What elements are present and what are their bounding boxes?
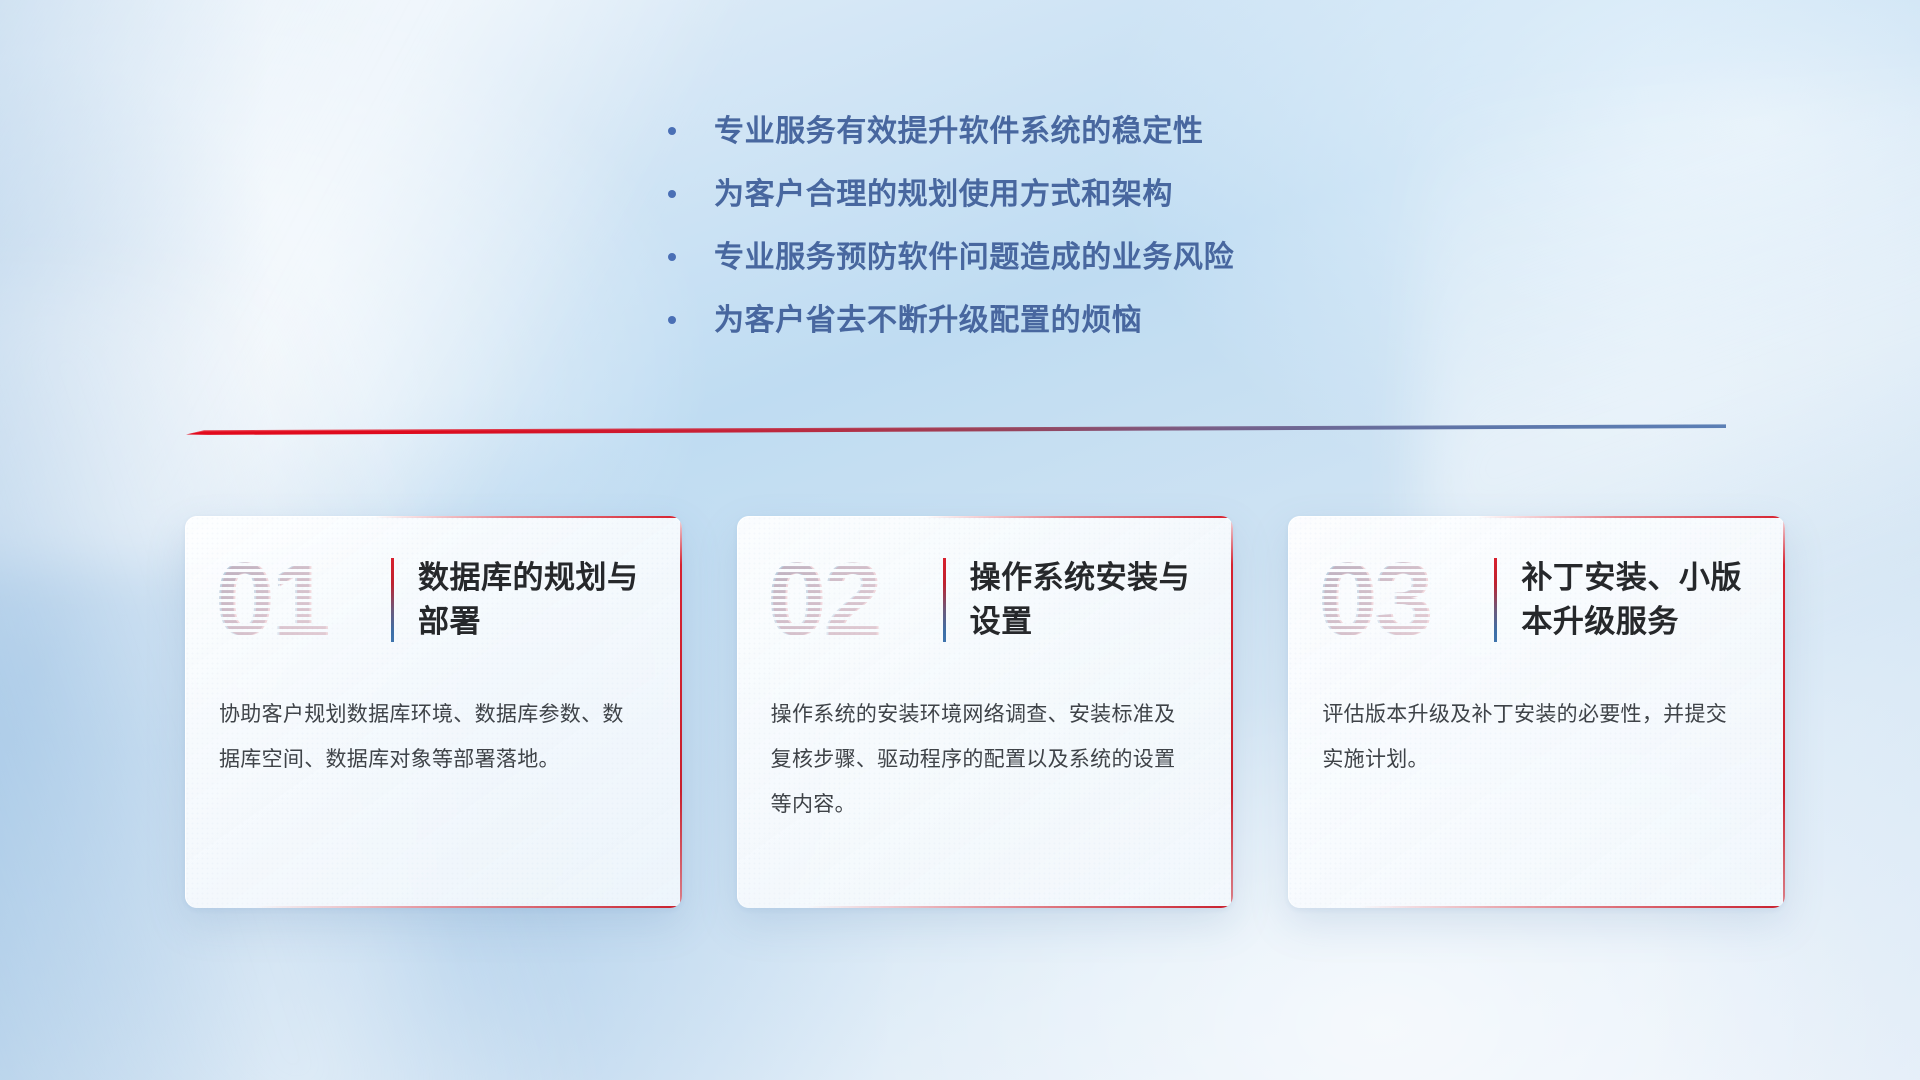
card-number-watermark: 03 03 bbox=[1316, 545, 1476, 655]
card-accent-border-bottom bbox=[255, 906, 682, 908]
bullet-item-label: 为客户合理的规划使用方式和架构 bbox=[714, 173, 1173, 217]
bullet-dot-icon bbox=[668, 316, 676, 324]
card-header: 02 02 操作系统安装与设置 bbox=[737, 516, 1234, 684]
bullet-item-label: 专业服务有效提升软件系统的稳定性 bbox=[714, 110, 1204, 154]
card-description: 评估版本升级及补丁安装的必要性，并提交实施计划。 bbox=[1288, 684, 1785, 782]
service-card-list: 01 01 数据库的规划与部署 协助客户规划数据库环境、数据库参数、数据库空间、… bbox=[185, 516, 1785, 916]
section-divider bbox=[186, 424, 1726, 442]
bullet-item-label: 为客户省去不断升级配置的烦恼 bbox=[714, 299, 1142, 343]
card-number-watermark: 02 02 bbox=[765, 545, 925, 655]
card-accent-bar bbox=[1494, 558, 1497, 642]
card-accent-bar bbox=[943, 558, 946, 642]
card-title: 补丁安装、小版本升级服务 bbox=[1521, 556, 1771, 644]
card-header: 01 01 数据库的规划与部署 bbox=[185, 516, 682, 684]
svg-text:02: 02 bbox=[769, 545, 881, 655]
bullet-item-label: 专业服务预防软件问题造成的业务风险 bbox=[714, 236, 1234, 280]
card-title: 操作系统安装与设置 bbox=[970, 556, 1220, 644]
card-accent-border-bottom bbox=[806, 906, 1233, 908]
service-card[interactable]: 01 01 数据库的规划与部署 协助客户规划数据库环境、数据库参数、数据库空间、… bbox=[185, 516, 682, 908]
card-accent-bar bbox=[391, 558, 394, 642]
list-item: 为客户合理的规划使用方式和架构 bbox=[663, 173, 1234, 217]
list-item: 为客户省去不断升级配置的烦恼 bbox=[663, 299, 1234, 343]
card-number-watermark: 01 01 bbox=[213, 545, 373, 655]
svg-text:03: 03 bbox=[1320, 545, 1432, 655]
card-description: 协助客户规划数据库环境、数据库参数、数据库空间、数据库对象等部署落地。 bbox=[185, 684, 682, 782]
service-card[interactable]: 03 03 补丁安装、小版本升级服务 评估版本升级及补丁安装的必要性，并提交实施… bbox=[1288, 516, 1785, 908]
svg-text:01: 01 bbox=[217, 545, 329, 655]
card-description: 操作系统的安装环境网络调查、安装标准及复核步骤、驱动程序的配置以及系统的设置等内… bbox=[737, 684, 1234, 827]
bullet-dot-icon bbox=[668, 127, 676, 135]
service-card[interactable]: 02 02 操作系统安装与设置 操作系统的安装环境网络调查、安装标准及复核步骤、… bbox=[737, 516, 1234, 908]
bullet-dot-icon bbox=[668, 190, 676, 198]
card-title: 数据库的规划与部署 bbox=[418, 556, 668, 644]
list-item: 专业服务预防软件问题造成的业务风险 bbox=[663, 236, 1234, 280]
card-header: 03 03 补丁安装、小版本升级服务 bbox=[1288, 516, 1785, 684]
benefits-bullet-list: 专业服务有效提升软件系统的稳定性 为客户合理的规划使用方式和架构 专业服务预防软… bbox=[663, 110, 1234, 362]
list-item: 专业服务有效提升软件系统的稳定性 bbox=[663, 110, 1234, 154]
bullet-dot-icon bbox=[668, 253, 676, 261]
card-accent-border-bottom bbox=[1358, 906, 1785, 908]
